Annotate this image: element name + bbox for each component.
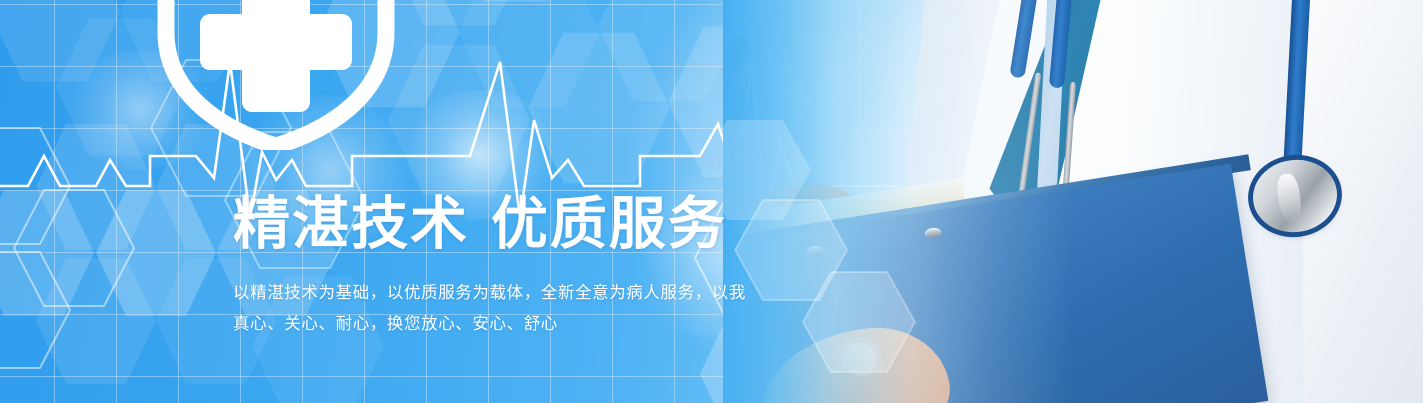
medical-banner: 精湛技术 优质服务 以精湛技术为基础，以优质服务为载体，全新全意为病人服务，以我… (0, 0, 1423, 403)
banner-text-block: 精湛技术 优质服务 以精湛技术为基础，以优质服务为载体，全新全意为病人服务，以我… (233, 192, 746, 339)
medical-shield-icon (148, 0, 404, 150)
banner-subtitle-line-2: 真心、关心、耐心，换您放心、安心、舒心 (233, 308, 746, 339)
banner-subtitle: 以精湛技术为基础，以优质服务为载体，全新全意为病人服务，以我 真心、关心、耐心，… (233, 277, 746, 339)
pen-band-lower (732, 146, 751, 162)
doctor-photo (723, 0, 1423, 403)
pen-band-upper (732, 70, 751, 86)
banner-subtitle-line-1: 以精湛技术为基础，以优质服务为载体，全新全意为病人服务，以我 (233, 277, 746, 308)
banner-headline: 精湛技术 优质服务 (233, 192, 746, 256)
